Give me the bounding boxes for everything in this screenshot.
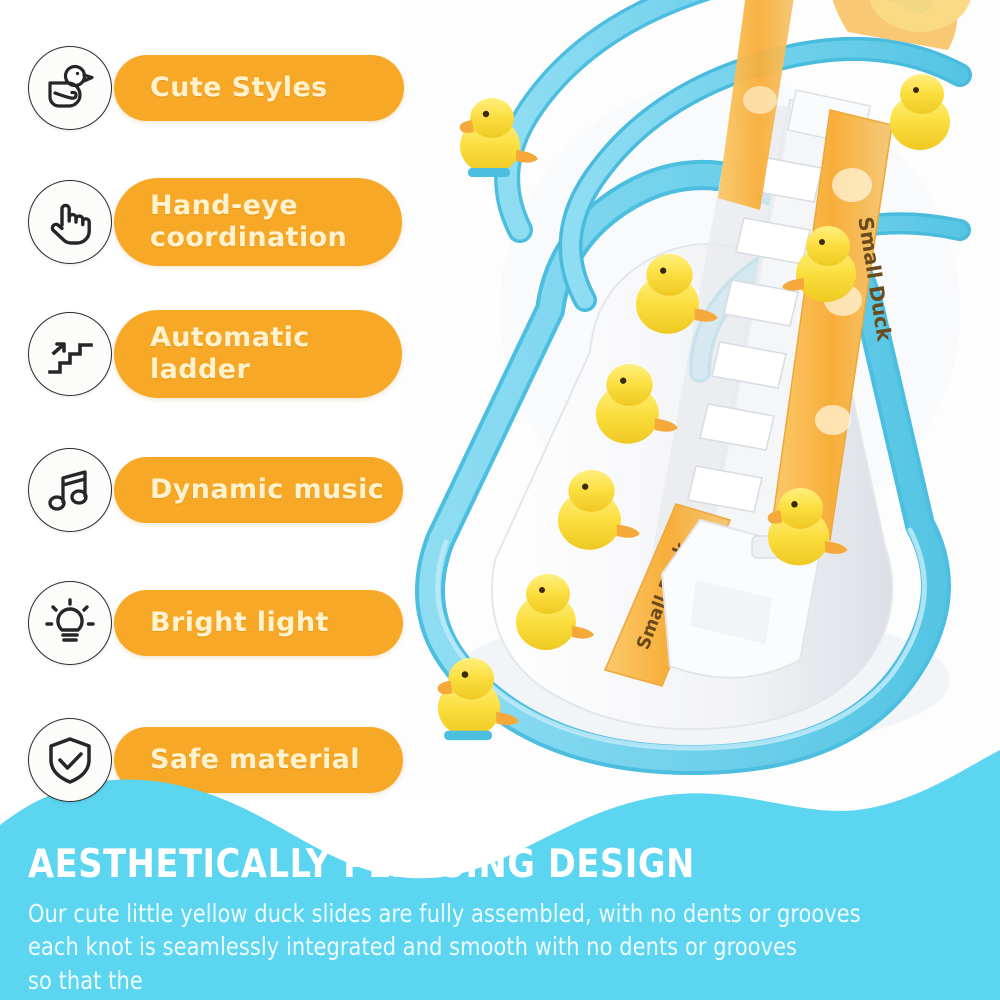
bottom-banner: AESTHETICALLY PLEASING DESIGN Our cute l… [0,750,1000,1000]
feature-pill[interactable]: Cute Styles [114,55,404,121]
banner-desc-line: each knot is seamlessly integrated and s… [28,930,912,963]
banner-desc-line: so that the [28,964,912,997]
feature-pill[interactable]: Bright light [114,590,403,656]
duck-icon[interactable] [28,46,112,130]
feature-label: Dynamic music [114,474,402,506]
feature-list: Cute Styles Hand-eye coordination [0,0,430,800]
feature-pill[interactable]: Hand-eye coordination [114,178,402,266]
shield-check-icon[interactable] [28,718,112,802]
feature-label: Cute Styles [114,72,346,104]
light-bulb-icon[interactable] [28,581,112,665]
feature-label: Automatic ladder [114,322,328,386]
product-photo: Small Duck Small Duck [400,0,1000,800]
feature-pill[interactable]: Automatic ladder [114,310,402,398]
banner-text-block: AESTHETICALLY PLEASING DESIGN Our cute l… [28,845,978,997]
banner-description: Our cute little yellow duck slides are f… [28,897,912,997]
feature-label: Hand-eye coordination [114,190,365,254]
feature-label: Bright light [114,607,347,639]
banner-desc-line: Our cute little yellow duck slides are f… [28,897,912,930]
feature-pill[interactable]: Dynamic music [114,457,403,523]
pointing-hand-icon[interactable] [28,180,112,264]
stairs-up-icon[interactable] [28,312,112,396]
infographic-page: Small Duck Small Duck [0,0,1000,1000]
music-note-icon[interactable] [28,448,112,532]
banner-title: AESTHETICALLY PLEASING DESIGN [28,845,940,884]
